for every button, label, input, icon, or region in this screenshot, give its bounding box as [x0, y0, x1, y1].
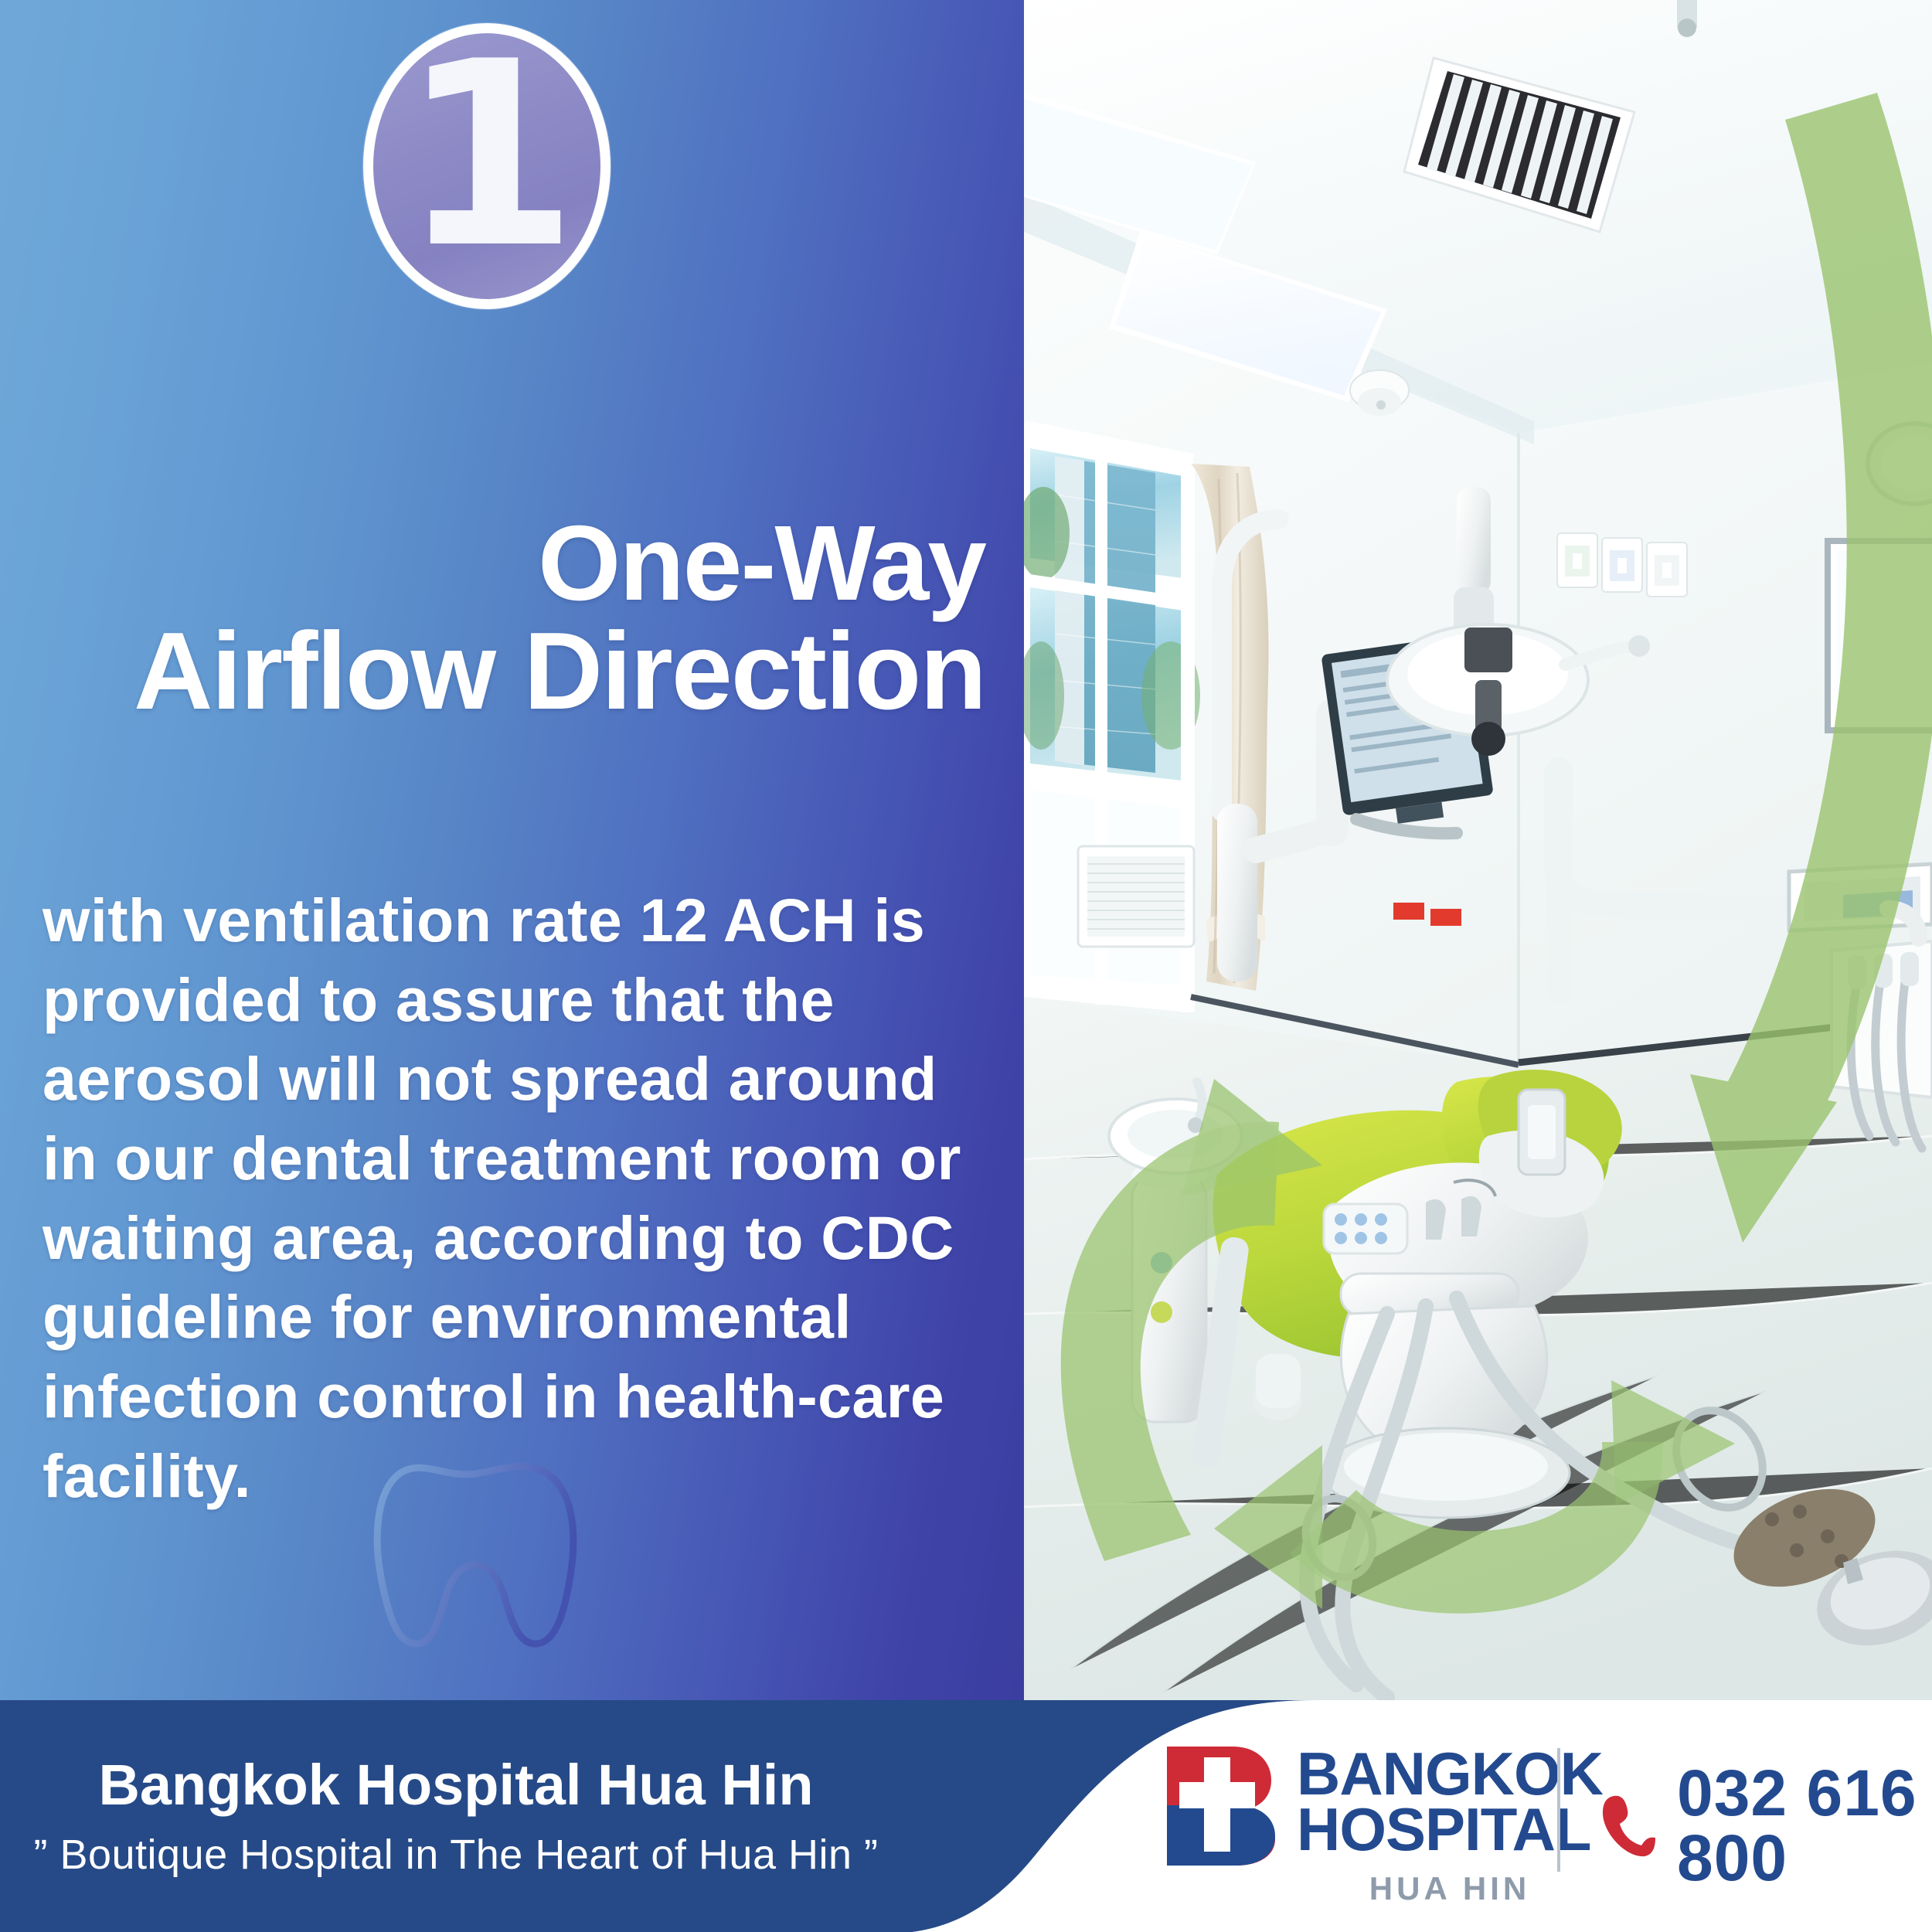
footer-phone[interactable]: 032 616 800 — [1600, 1760, 1932, 1890]
hospital-cross-b-icon — [1159, 1743, 1275, 1867]
photo-illustration — [1024, 0, 1932, 1700]
phone-number: 032 616 800 — [1677, 1760, 1932, 1890]
page-title: One-Way Airflow Direction — [31, 510, 985, 726]
footer-tagline: ” Boutique Hospital in The Heart of Hua … — [33, 1834, 878, 1876]
phone-icon — [1600, 1793, 1655, 1858]
brand-line-3: HUA HIN — [1297, 1870, 1603, 1907]
body-paragraph: with ventilation rate 12 ACH is provided… — [43, 881, 978, 1516]
footer-hospital-info: Bangkok Hospital Hua Hin ” Boutique Hosp… — [0, 1700, 912, 1932]
info-panel: 1 One-Way Airflow Direction with ventila… — [0, 0, 1024, 1700]
treatment-room-photo — [1024, 0, 1932, 1700]
step-number-badge: 1 — [363, 23, 611, 309]
step-number: 1 — [400, 28, 573, 283]
sprinkler-icon — [1677, 0, 1697, 37]
wall-switches-icon — [1557, 533, 1687, 597]
poster-root: 1 One-Way Airflow Direction with ventila… — [0, 0, 1932, 1932]
footer-divider — [1557, 1748, 1560, 1872]
title-line-1: One-Way — [538, 504, 985, 623]
window-icon — [1024, 429, 1200, 1012]
footer-bar: Bangkok Hospital Hua Hin ” Boutique Hosp… — [0, 1700, 1932, 1932]
bangkok-hospital-logo[interactable]: BANGKOK HOSPITAL HUA HIN — [1159, 1743, 1603, 1907]
title-line-2: Airflow Direction — [31, 617, 985, 726]
footer-hospital-name: Bangkok Hospital Hua Hin — [98, 1757, 813, 1814]
